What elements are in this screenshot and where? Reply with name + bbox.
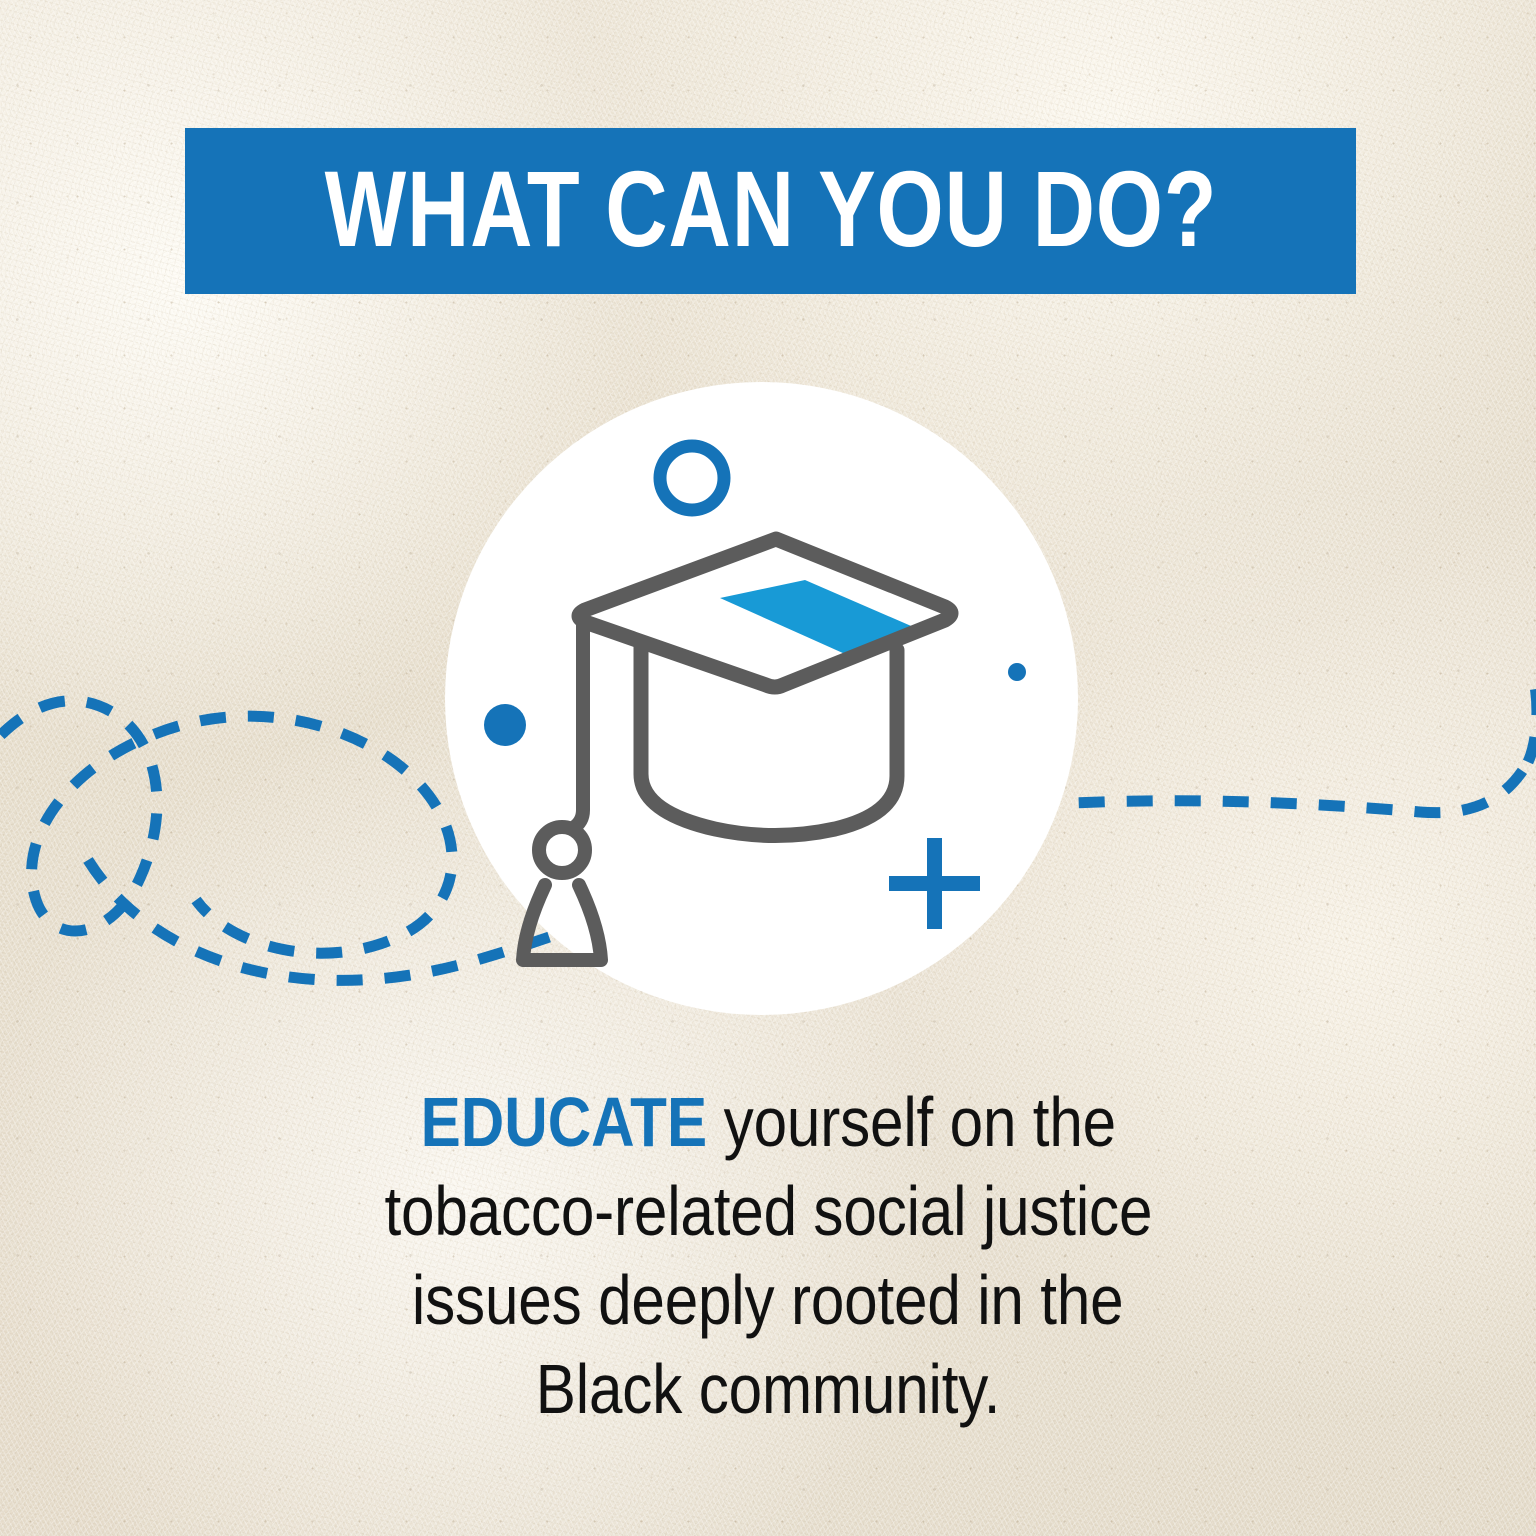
caption-line-4: Black community.: [268, 1345, 1268, 1434]
cap-shape: [523, 539, 951, 960]
caption-line-2: tobacco-related social justice: [268, 1167, 1268, 1256]
page-title: WHAT CAN YOU DO?: [324, 155, 1217, 263]
header-banner: WHAT CAN YOU DO?: [185, 128, 1356, 294]
graduation-cap-icon: [445, 382, 1078, 1015]
tassel-cord: [573, 620, 583, 828]
caption-keyword: EDUCATE: [420, 1083, 707, 1161]
ring-outline-circle: [660, 446, 724, 510]
caption-line-3: issues deeply rooted in the: [268, 1256, 1268, 1345]
tassel-ring: [539, 827, 585, 873]
filled-dot-small: [1008, 663, 1026, 681]
plus-sign: [889, 838, 980, 929]
caption-line-1: EDUCATE yourself on the: [268, 1078, 1268, 1167]
caption-line-1-rest: yourself on the: [707, 1083, 1116, 1161]
caption-block: EDUCATE yourself on the tobacco-related …: [268, 1078, 1268, 1434]
cap-crown: [641, 644, 897, 836]
poster-canvas: WHAT CAN YOU DO?: [0, 0, 1536, 1536]
filled-dot-large: [484, 704, 526, 746]
icon-medallion: [445, 382, 1078, 1015]
tassel-fringe: [523, 885, 601, 960]
